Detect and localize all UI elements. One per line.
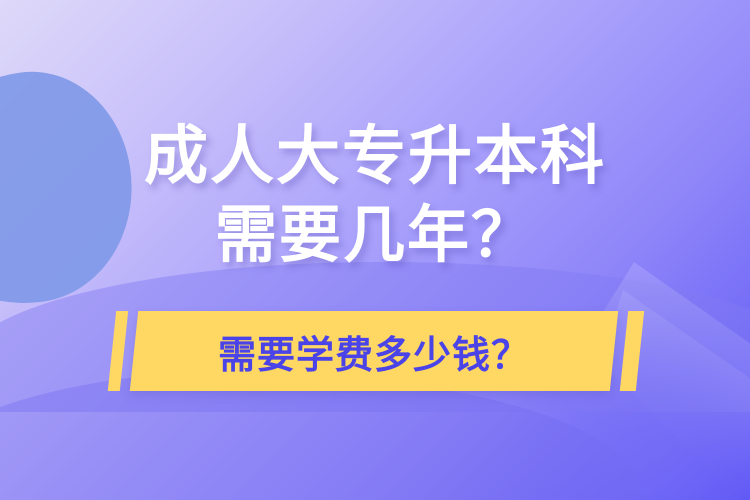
wave-band-lower-decoration-icon xyxy=(0,372,640,500)
headline: 成人大专升本科 需要几年？ xyxy=(0,116,750,276)
promo-banner: 成人大专升本科 需要几年？ 需要学费多少钱？ xyxy=(0,0,750,500)
sub-banner-label: 需要学费多少钱？ xyxy=(134,311,614,391)
sub-banner-accent-bar-left xyxy=(108,311,128,391)
sub-banner-accent-bar-right xyxy=(620,311,644,391)
headline-line-1: 成人大专升本科 xyxy=(0,116,750,196)
sub-banner: 需要学费多少钱？ xyxy=(112,311,652,391)
headline-line-2: 需要几年？ xyxy=(0,196,750,276)
